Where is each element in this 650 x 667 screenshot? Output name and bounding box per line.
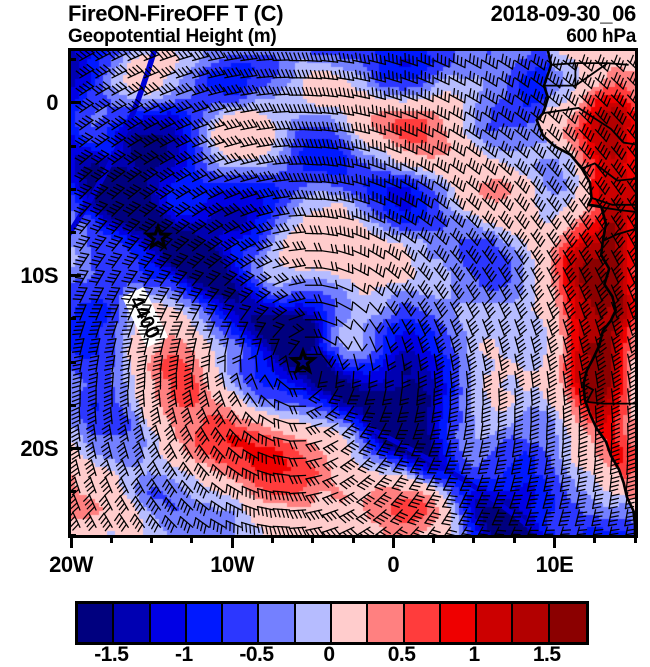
x-axis-minor-tick	[352, 535, 355, 543]
pressure-level-label: 600 hPa	[566, 26, 636, 48]
colorbar-segment	[151, 604, 187, 642]
colorbar-segment	[477, 604, 513, 642]
colorbar-segment	[550, 604, 586, 642]
x-axis-minor-tick	[311, 535, 314, 543]
x-axis-minor-tick	[634, 535, 637, 543]
y-axis-minor-tick	[68, 231, 76, 234]
colorbar-tick-label: -0.5	[239, 643, 273, 667]
colorbar[interactable]	[75, 601, 589, 645]
colorbar-segment	[513, 604, 549, 642]
x-axis-major-tick	[231, 535, 234, 548]
x-axis-minor-tick	[190, 535, 193, 543]
x-axis-label: 20W	[49, 552, 93, 578]
colorbar-tick-label: 1.5	[533, 643, 561, 667]
colorbar-tick-label: -1.5	[94, 643, 128, 667]
x-axis-major-tick	[553, 535, 556, 548]
colorbar-segment	[405, 604, 441, 642]
y-axis-label: 0	[46, 90, 58, 116]
y-axis-minor-tick	[68, 188, 76, 191]
page-title: FireON-FireOFF T (C)	[68, 1, 283, 27]
colorbar-tick-label: 0	[323, 643, 334, 667]
x-axis-label: 0	[387, 552, 399, 578]
figure-root: FireON-FireOFF T (C) 2018-09-30_06 Geopo…	[0, 0, 650, 667]
y-axis-major-tick	[68, 274, 81, 277]
y-axis-minor-tick	[68, 361, 76, 364]
y-axis-minor-tick	[68, 490, 76, 493]
colorbar-tick-label: 0.5	[388, 643, 416, 667]
x-axis-minor-tick	[110, 535, 113, 543]
colorbar-segment	[187, 604, 223, 642]
colorbar-segment	[259, 604, 295, 642]
y-axis-minor-tick	[68, 145, 76, 148]
y-axis-major-tick	[68, 447, 81, 450]
x-axis-major-tick	[392, 535, 395, 548]
valid-time-label: 2018-09-30_06	[491, 1, 636, 27]
colorbar-segment	[368, 604, 404, 642]
y-axis-minor-tick	[68, 534, 76, 537]
country-border	[575, 63, 607, 86]
subtitle-label: Geopotential Height (m)	[68, 26, 276, 48]
colorbar-segment	[332, 604, 368, 642]
y-axis-label: 20S	[20, 436, 58, 462]
x-axis-minor-tick	[472, 535, 475, 543]
x-axis-label: 10W	[210, 552, 254, 578]
colorbar-segment	[441, 604, 477, 642]
map-plot-area[interactable]: 4400	[68, 48, 638, 538]
x-axis-major-tick	[70, 535, 73, 548]
colorbar-segment	[78, 604, 114, 642]
x-axis-minor-tick	[513, 535, 516, 543]
country-border	[587, 402, 635, 404]
x-axis-minor-tick	[432, 535, 435, 543]
x-axis-minor-tick	[150, 535, 153, 543]
y-axis-major-tick	[68, 101, 81, 104]
colorbar-tick-label: -1	[175, 643, 193, 667]
colorbar-segment	[114, 604, 150, 642]
y-axis-minor-tick	[68, 404, 76, 407]
x-axis-minor-tick	[271, 535, 274, 543]
country-border	[588, 205, 635, 212]
colorbar-segment	[223, 604, 259, 642]
x-axis-label: 10E	[536, 552, 574, 578]
colorbar-tick-label: 1	[469, 643, 480, 667]
map-overlays: 4400	[71, 51, 635, 535]
y-axis-minor-tick	[68, 58, 76, 61]
y-axis-minor-tick	[68, 317, 76, 320]
wind-barb-layer	[71, 51, 635, 535]
colorbar-segment	[296, 604, 332, 642]
y-axis-label: 10S	[20, 263, 58, 289]
x-axis-minor-tick	[593, 535, 596, 543]
